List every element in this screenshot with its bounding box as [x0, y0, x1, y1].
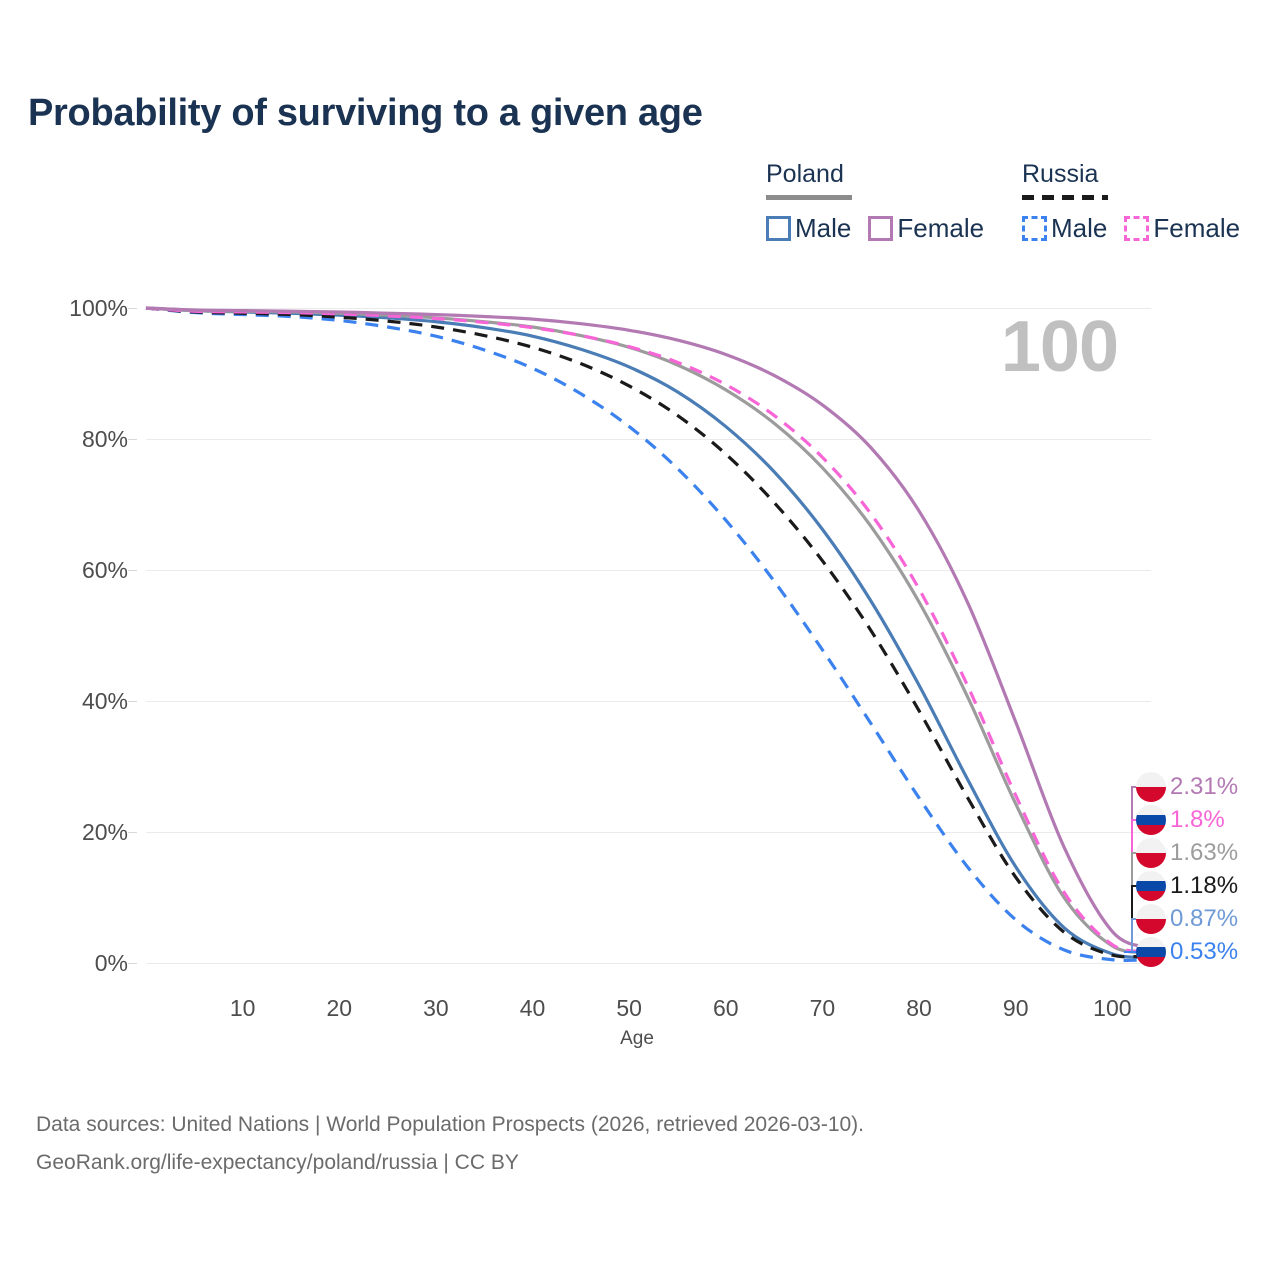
footer-sources: Data sources: United Nations | World Pop…	[36, 1106, 864, 1144]
series-end-value: 1.63%	[1170, 839, 1238, 867]
x-axis-tick: 20	[299, 995, 379, 1022]
series-end-labels: 2.31%1.8%1.63%1.18%0.87%0.53%	[1136, 772, 1280, 972]
series-end-label: 2.31%	[1136, 772, 1238, 802]
legend-item-russia-female[interactable]: Female	[1124, 213, 1240, 244]
series-end-value: 1.8%	[1170, 806, 1225, 834]
y-axis-tick: 60%	[8, 557, 128, 584]
legend-item-poland-female[interactable]: Female	[868, 213, 984, 244]
series-end-label: 1.8%	[1136, 805, 1225, 835]
legend-swatch-icon	[766, 216, 791, 241]
y-axis-tick: 80%	[8, 426, 128, 453]
legend-item-russia-male[interactable]: Male	[1022, 213, 1107, 244]
series-end-value: 2.31%	[1170, 773, 1238, 801]
legend-swatch-icon	[868, 216, 893, 241]
y-axis-tick-mark	[128, 701, 137, 702]
series-line	[146, 308, 1151, 948]
x-axis-tick: 80	[879, 995, 959, 1022]
x-axis-tick: 50	[589, 995, 669, 1022]
series-end-label: 1.63%	[1136, 838, 1238, 868]
legend-item-label: Female	[897, 213, 984, 244]
y-axis-tick-mark	[128, 308, 137, 309]
series-end-value: 1.18%	[1170, 872, 1238, 900]
y-axis-tick-mark	[128, 832, 137, 833]
x-axis-tick: 10	[203, 995, 283, 1022]
y-axis-tick: 0%	[8, 950, 128, 977]
series-line	[146, 308, 1151, 957]
series-end-value: 0.87%	[1170, 905, 1238, 933]
legend-item-label: Female	[1153, 213, 1240, 244]
footer-attribution: GeoRank.org/life-expectancy/poland/russi…	[36, 1144, 864, 1182]
legend-item-poland-male[interactable]: Male	[766, 213, 851, 244]
legend-country-label: Poland	[766, 160, 984, 191]
legend-item-label: Male	[1051, 213, 1107, 244]
y-axis-tick: 20%	[8, 819, 128, 846]
legend-country-rule	[766, 195, 852, 200]
poland-flag-icon	[1136, 772, 1166, 802]
plot-area: 100	[146, 308, 1151, 963]
y-axis-tick-mark	[128, 439, 137, 440]
y-axis-tick-mark	[128, 963, 137, 964]
x-axis-tick: 90	[976, 995, 1056, 1022]
chart-legend: Poland Male Female Russia Male	[760, 160, 1260, 240]
y-axis-tick: 100%	[8, 295, 128, 322]
legend-swatch-icon	[1022, 216, 1047, 241]
y-axis: Survival probability 100%80%60%40%20%0%	[0, 308, 128, 963]
gridline	[146, 963, 1151, 964]
poland-flag-icon	[1136, 838, 1166, 868]
series-lines	[146, 308, 1151, 963]
legend-item-label: Male	[795, 213, 851, 244]
series-end-label: 0.87%	[1136, 904, 1238, 934]
x-axis-tick: 100	[1072, 995, 1152, 1022]
footer: Data sources: United Nations | World Pop…	[36, 1106, 864, 1182]
russia-flag-icon	[1136, 871, 1166, 901]
x-axis-tick: 70	[782, 995, 862, 1022]
x-axis-label: Age	[0, 1028, 1280, 1050]
chart-page: Probability of surviving to a given age …	[0, 0, 1280, 1280]
russia-flag-icon	[1136, 805, 1166, 835]
series-end-value: 0.53%	[1170, 938, 1238, 966]
y-axis-tick-mark	[128, 570, 137, 571]
series-end-label: 0.53%	[1136, 937, 1238, 967]
series-line	[146, 308, 1151, 960]
legend-swatch-icon	[1124, 216, 1149, 241]
series-end-label: 1.18%	[1136, 871, 1238, 901]
legend-group-russia: Russia Male Female	[1022, 160, 1240, 244]
russia-flag-icon	[1136, 937, 1166, 967]
x-axis-tick: 30	[396, 995, 476, 1022]
series-line	[146, 308, 1151, 957]
x-axis-tick: 40	[493, 995, 573, 1022]
poland-flag-icon	[1136, 904, 1166, 934]
x-axis-tick: 60	[686, 995, 766, 1022]
y-axis-tick: 40%	[8, 688, 128, 715]
page-title: Probability of surviving to a given age	[28, 92, 703, 135]
legend-group-poland: Poland Male Female	[766, 160, 984, 244]
legend-country-label: Russia	[1022, 160, 1240, 191]
x-axis-label-text: Age	[620, 1028, 654, 1049]
legend-country-rule	[1022, 195, 1108, 200]
